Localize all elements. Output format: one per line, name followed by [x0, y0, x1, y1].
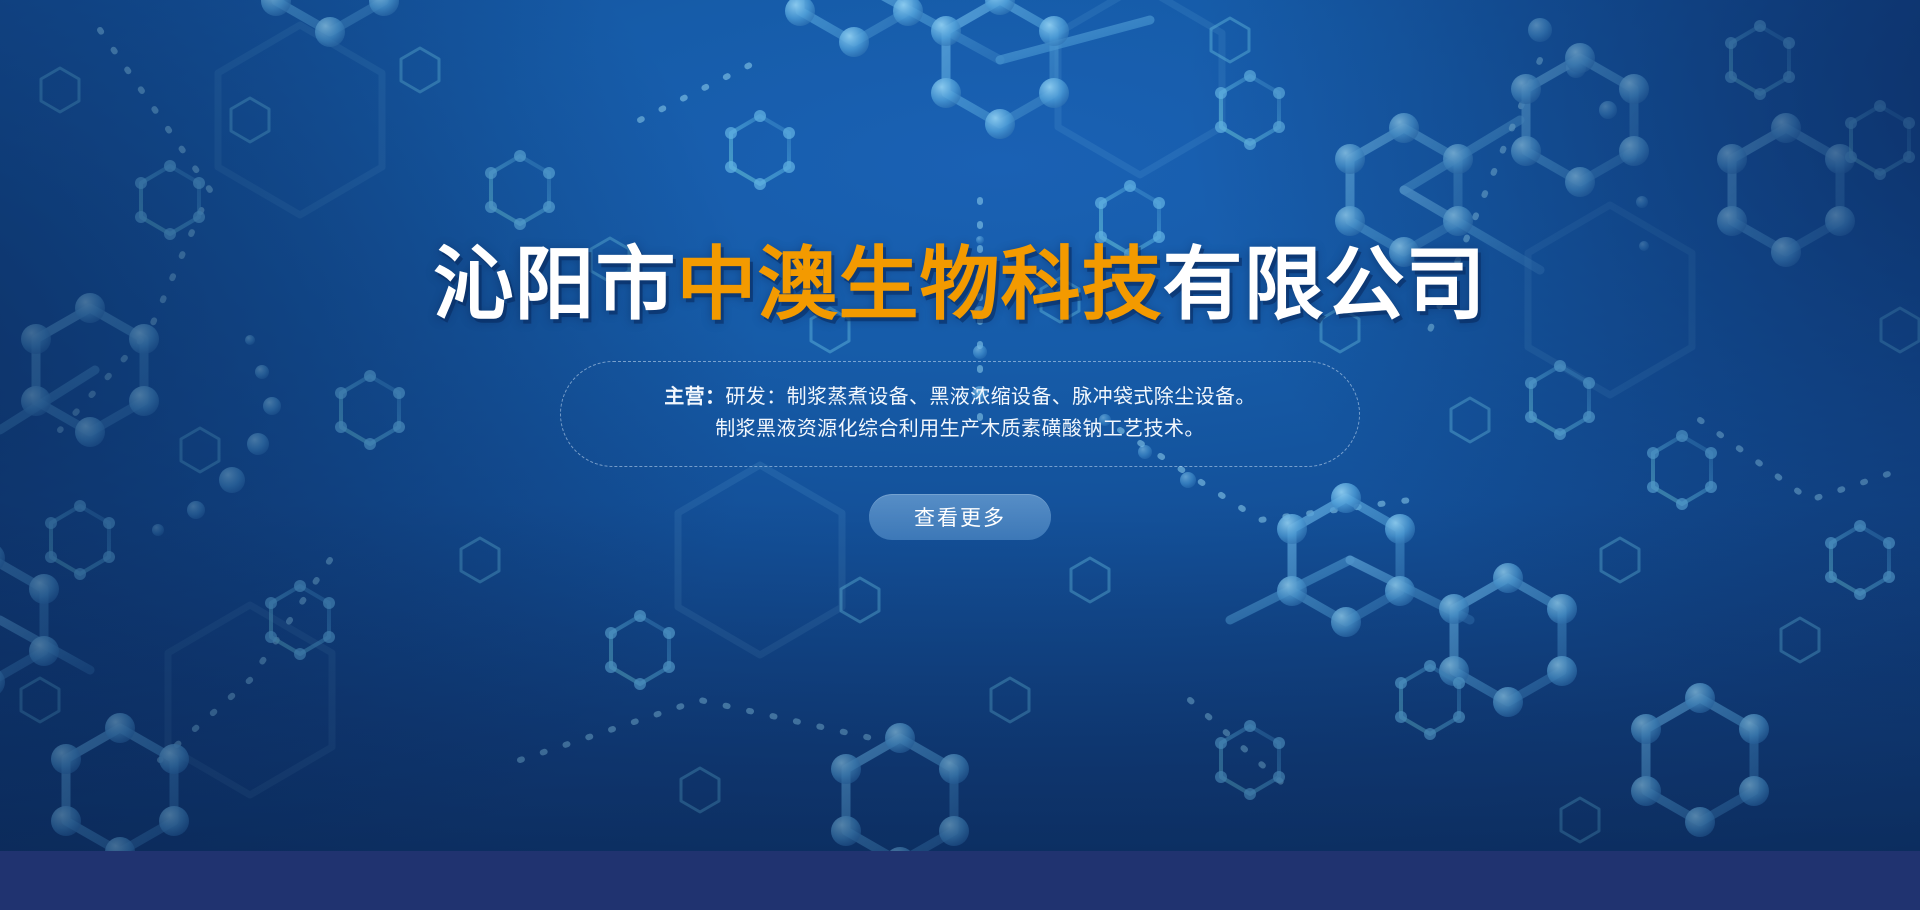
subtitle-line-2: 制浆黑液资源化综合利用生产木质素磺酸钠工艺技术。	[595, 413, 1325, 445]
bottom-bar	[0, 851, 1920, 910]
title-segment-prefix: 沁阳市	[434, 240, 677, 329]
subtitle-lead-label: 主营：	[664, 386, 725, 408]
subtitle-line-1: 主营：研发：制浆蒸煮设备、黑液浓缩设备、脉冲袋式除尘设备。	[595, 381, 1325, 413]
view-more-button[interactable]: 查看更多	[869, 494, 1051, 540]
subtitle-panel: 主营：研发：制浆蒸煮设备、黑液浓缩设备、脉冲袋式除尘设备。 制浆黑液资源化综合利…	[560, 361, 1360, 467]
hero-content: 沁阳市中澳生物科技有限公司 主营：研发：制浆蒸煮设备、黑液浓缩设备、脉冲袋式除尘…	[0, 0, 1920, 851]
hero-banner: 沁阳市中澳生物科技有限公司 主营：研发：制浆蒸煮设备、黑液浓缩设备、脉冲袋式除尘…	[0, 0, 1920, 910]
page-title: 沁阳市中澳生物科技有限公司	[434, 0, 1487, 328]
subtitle-line-1-text: 研发：制浆蒸煮设备、黑液浓缩设备、脉冲袋式除尘设备。	[725, 386, 1255, 408]
title-segment-accent: 中澳生物科技	[677, 240, 1163, 329]
title-segment-suffix: 有限公司	[1163, 240, 1487, 329]
